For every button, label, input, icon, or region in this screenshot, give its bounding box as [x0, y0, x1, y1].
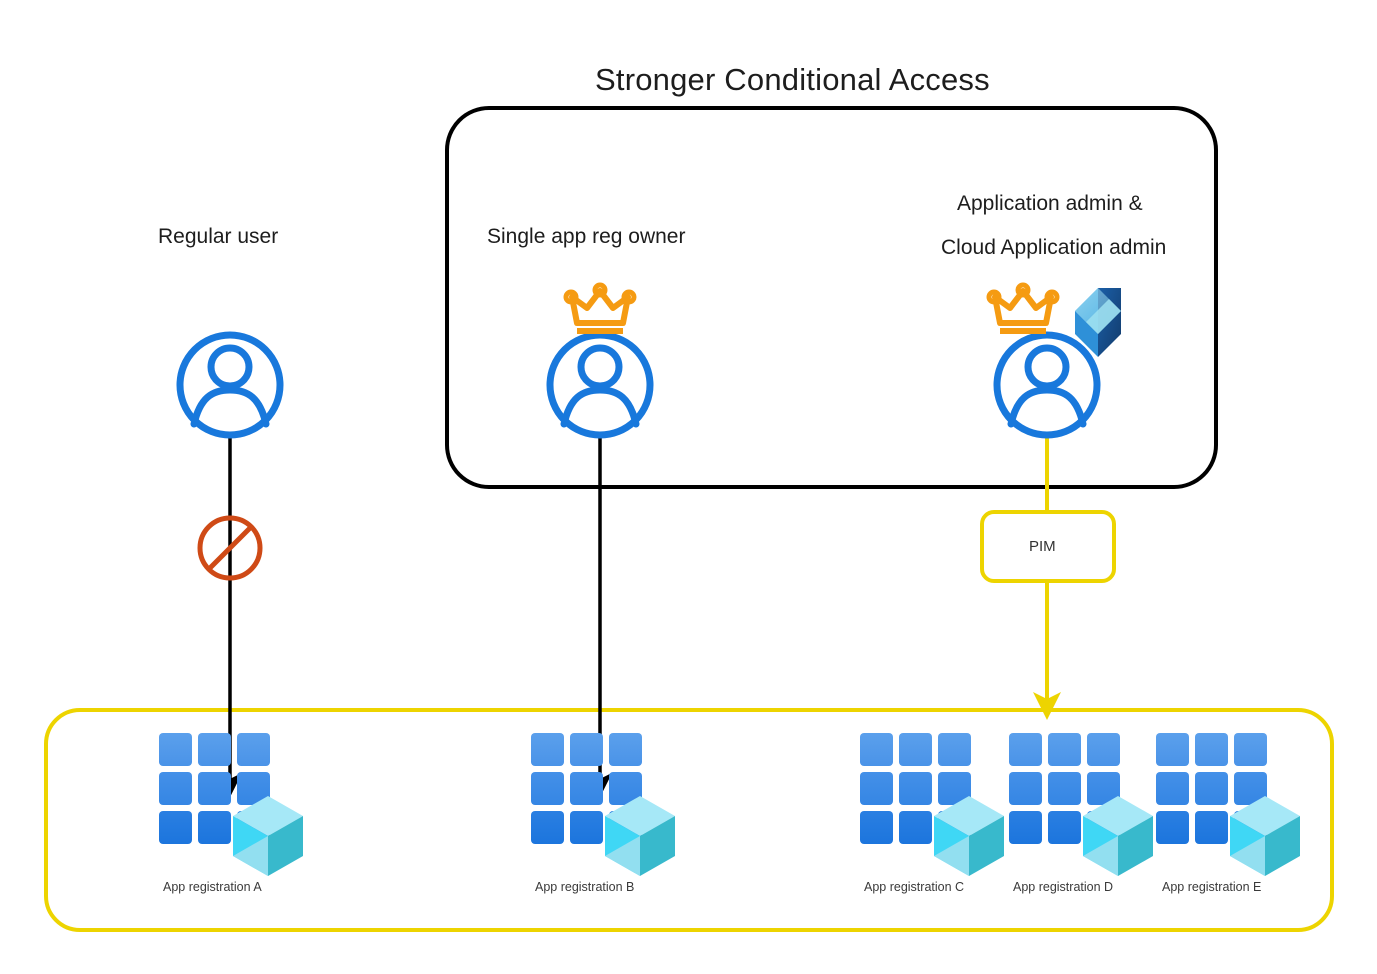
- label-app-reg-owner: Single app reg owner: [487, 225, 685, 249]
- app-registration-icon-e[interactable]: [1156, 733, 1300, 876]
- app-registration-label-b: App registration B: [535, 880, 634, 894]
- app-registration-label-d: App registration D: [1013, 880, 1113, 894]
- app-registration-icon-b[interactable]: [531, 733, 675, 876]
- actor-application-admin-icon: [997, 335, 1097, 435]
- app-registration-label-e: App registration E: [1162, 880, 1261, 894]
- app-registration-label-c: App registration C: [864, 880, 964, 894]
- pim-node-label: PIM: [1029, 538, 1056, 555]
- actor-app-reg-owner-icon: [550, 335, 650, 435]
- diagram-graphics: [0, 0, 1377, 974]
- crown-icon-admin: [989, 285, 1057, 331]
- actor-regular-user-icon: [180, 335, 280, 435]
- diagram-title: Stronger Conditional Access: [595, 62, 990, 98]
- app-registration-icon-d[interactable]: [1009, 733, 1153, 876]
- label-regular-user: Regular user: [158, 225, 278, 249]
- app-registration-icon-a[interactable]: [159, 733, 303, 876]
- crown-icon-owner: [566, 285, 634, 331]
- label-application-admin-line1: Application admin &: [957, 192, 1143, 216]
- app-registration-label-a: App registration A: [163, 880, 262, 894]
- diagram-canvas: Stronger Conditional Access Regular user…: [0, 0, 1377, 974]
- label-application-admin-line2: Cloud Application admin: [941, 236, 1166, 260]
- app-registration-icon-c[interactable]: [860, 733, 1004, 876]
